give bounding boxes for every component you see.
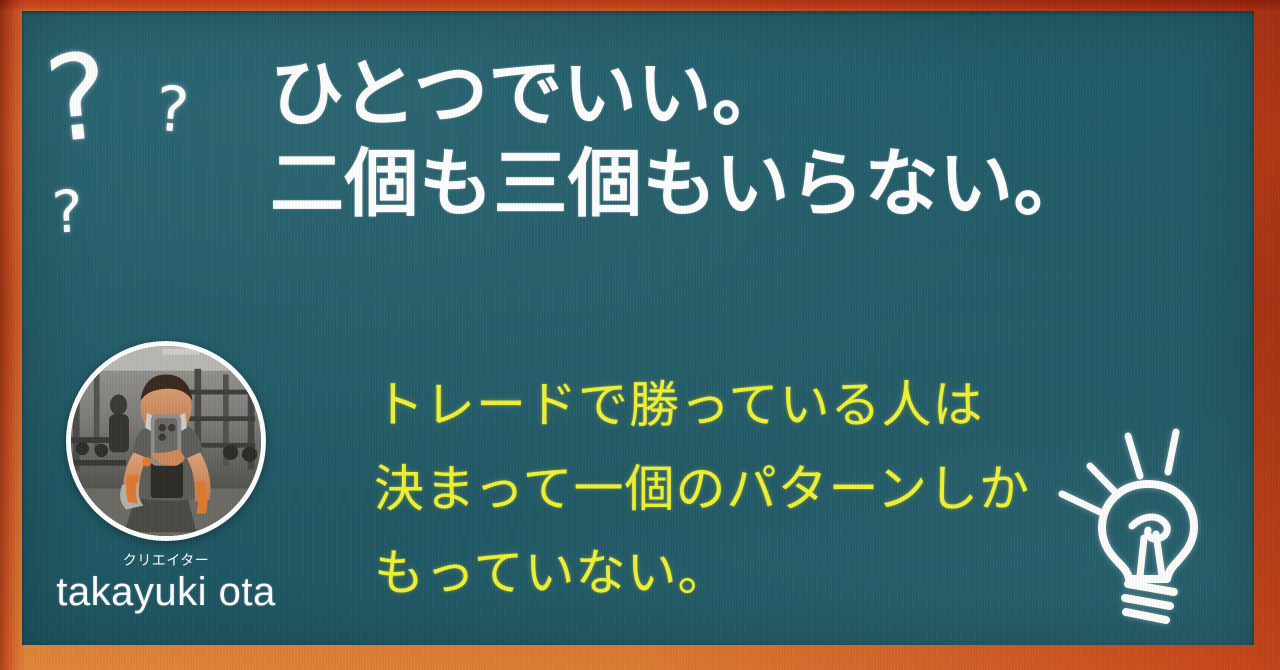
question-mark-small-icon: ?	[51, 182, 85, 242]
lightbulb-glyph	[1056, 422, 1236, 637]
creator-block: クリエイター takayuki ota	[56, 341, 276, 613]
question-mark-large-icon: ?	[40, 36, 115, 160]
avatar	[66, 341, 266, 541]
wooden-frame: ? ? ? ひとつでいい。 二個も三個もいらない。 トレードで勝っている人は 決…	[0, 0, 1280, 670]
body-line-3: もっていない。	[374, 531, 1174, 615]
chalkboard: ? ? ? ひとつでいい。 二個も三個もいらない。 トレードで勝っている人は 決…	[22, 11, 1254, 645]
avatar-photo	[71, 346, 261, 536]
headline: ひとつでいい。 二個も三個もいらない。	[270, 49, 1250, 230]
headline-line-2: 二個も三個もいらない。	[270, 139, 1250, 229]
creator-name: takayuki ota	[56, 571, 276, 613]
headline-line-1: ひとつでいい。	[270, 49, 1250, 139]
body-copy: トレードで勝っている人は 決まって一個のパターンしか もっていない。	[374, 363, 1174, 615]
creator-role-label: クリエイター	[56, 550, 276, 570]
body-line-2: 決まって一個のパターンしか	[374, 447, 1174, 531]
body-line-1: トレードで勝っている人は	[374, 363, 1174, 447]
question-mark-medium-icon: ?	[154, 78, 191, 142]
lightbulb-icon	[1056, 422, 1236, 637]
